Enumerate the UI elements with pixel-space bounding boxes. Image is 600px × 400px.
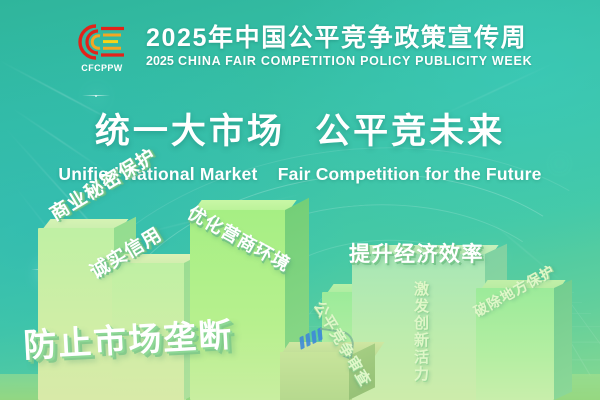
block-side xyxy=(554,280,572,400)
city-illustration: 商业秘密保护 诚实信用 优化营商环境 提升经济效率 公平竞争审查 激发创新活力 … xyxy=(0,185,600,400)
header-title-block: 2025年中国公平竞争政策宣传周 2025 CHINA FAIR COMPETI… xyxy=(146,25,532,69)
city-block xyxy=(38,228,116,400)
city-block xyxy=(476,288,554,400)
poster-canvas: CFCPPW 2025年中国公平竞争政策宣传周 2025 CHINA FAIR … xyxy=(0,0,600,400)
page-title-cn: 2025年中国公平竞争政策宣传周 xyxy=(146,25,532,52)
logo-caption: CFCPPW xyxy=(81,64,122,73)
decor-glow xyxy=(92,92,101,101)
slogan-cn: 统一大市场 公平竞未来 xyxy=(0,103,600,154)
page-title-en-rest: CHINA FAIR COMPETITION POLICY PUBLICITY … xyxy=(174,54,533,68)
block-face xyxy=(112,263,186,400)
city-block xyxy=(190,210,285,400)
page-title-en: 2025 CHINA FAIR COMPETITION POLICY PUBLI… xyxy=(146,55,532,69)
logo: CFCPPW xyxy=(66,22,138,73)
city-block xyxy=(112,263,186,400)
block-face xyxy=(38,228,116,400)
block-face xyxy=(190,210,285,400)
podium-face xyxy=(280,352,352,400)
poster-header: CFCPPW 2025年中国公平竞争政策宣传周 2025 CHINA FAIR … xyxy=(0,14,600,80)
decor-spark xyxy=(95,95,97,97)
page-title-en-year: 2025 xyxy=(146,54,174,68)
slogan-en: Unified National Market Fair Competition… xyxy=(0,164,600,185)
block-face xyxy=(476,288,554,400)
slogan-block: 统一大市场 公平竞未来 Unified National Market Fair… xyxy=(0,103,600,185)
cfcppw-logo-icon xyxy=(74,22,130,62)
